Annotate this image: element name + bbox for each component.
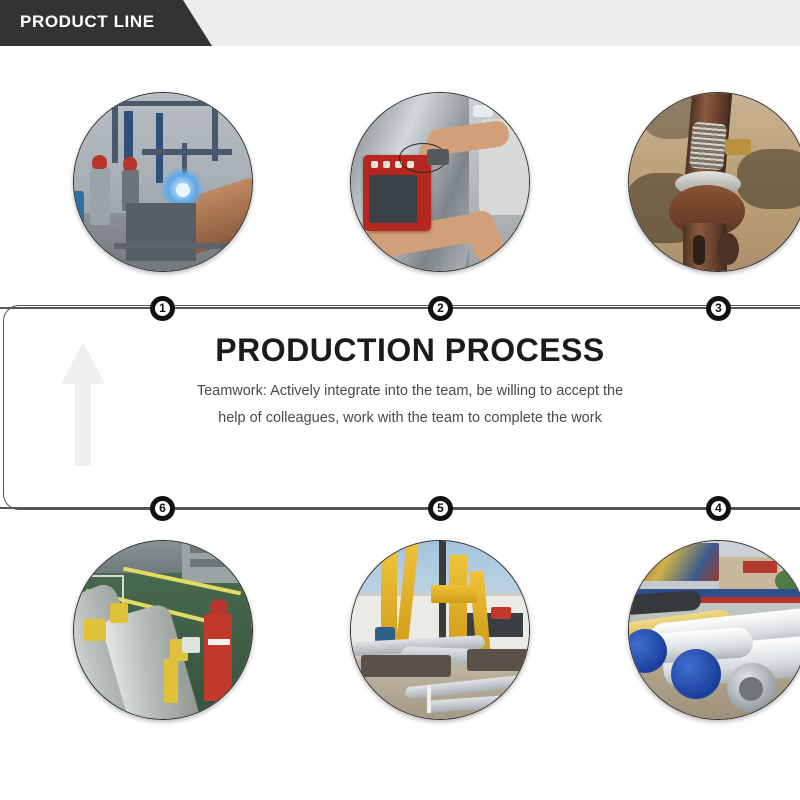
header-band: PRODUCT LINE <box>0 0 800 46</box>
photo-finished-pipes <box>628 540 800 720</box>
photo-shaft-component <box>628 92 800 272</box>
welding-workshop-scene <box>73 92 253 272</box>
product-line-label: PRODUCT LINE <box>20 12 155 32</box>
finished-pipes-scene <box>628 540 800 720</box>
process-description: Teamwork: Actively integrate into the te… <box>190 378 630 432</box>
step-badge-1[interactable]: 1 <box>150 296 175 321</box>
photo-packaged-pipes <box>73 540 253 720</box>
connector-rail-bottom <box>0 507 800 509</box>
step-badge-5[interactable]: 5 <box>428 496 453 521</box>
step-badge-2[interactable]: 2 <box>428 296 453 321</box>
ultrasonic-testing-scene <box>350 92 530 272</box>
rig-yard-scene <box>350 540 530 720</box>
step-badge-3[interactable]: 3 <box>706 296 731 321</box>
step-badge-4[interactable]: 4 <box>706 496 731 521</box>
photo-ultrasonic-testing <box>350 92 530 272</box>
photo-welding-workshop <box>73 92 253 272</box>
photo-rig-yard <box>350 540 530 720</box>
connector-rail-top <box>0 307 800 309</box>
process-title: PRODUCTION PROCESS <box>150 332 670 369</box>
packaged-pipes-scene <box>73 540 253 720</box>
shaft-component-scene <box>628 92 800 272</box>
up-arrow-icon <box>58 340 108 468</box>
step-badge-6[interactable]: 6 <box>150 496 175 521</box>
